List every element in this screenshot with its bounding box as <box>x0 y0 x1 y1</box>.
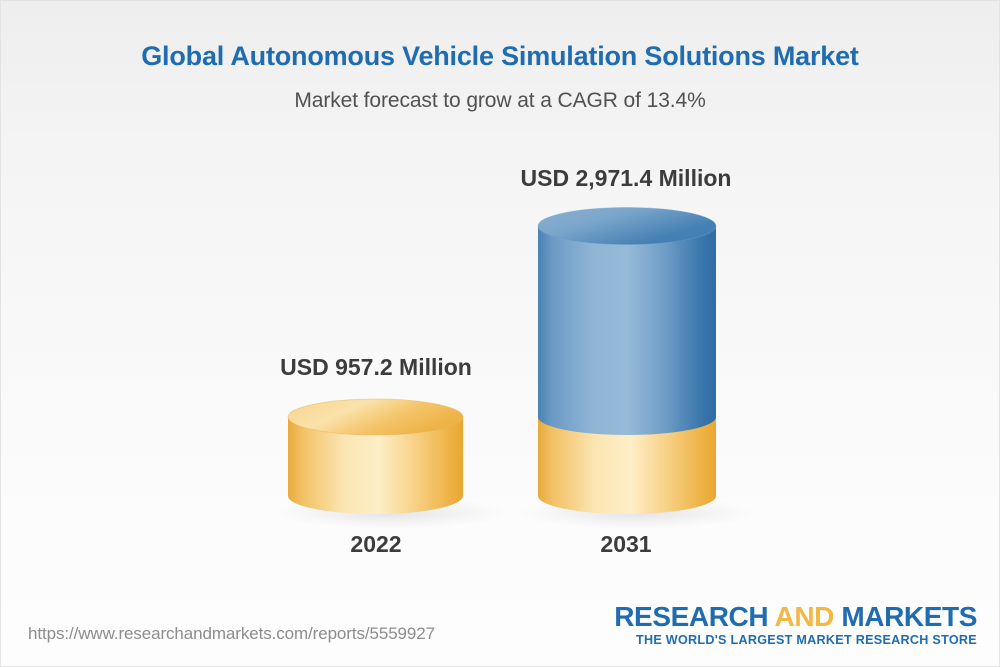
source-url[interactable]: https://www.researchandmarkets.com/repor… <box>28 624 435 644</box>
plot-area: USD 957.2 Million USD 2,971.4 Million 20… <box>1 1 1000 601</box>
cylinder-bars-graphic <box>1 1 1000 601</box>
value-label-2031: USD 2,971.4 Million <box>441 165 811 192</box>
logo-word-research: RESEARCH <box>614 601 774 632</box>
value-label-2022: USD 957.2 Million <box>191 354 561 381</box>
logo-word-markets: MARKETS <box>841 601 977 632</box>
logo-wordmark: RESEARCH AND MARKETS <box>614 602 977 631</box>
logo-word-and: AND <box>775 601 842 632</box>
chart-canvas: Global Autonomous Vehicle Simulation Sol… <box>0 0 1000 667</box>
research-and-markets-logo[interactable]: RESEARCH AND MARKETS THE WORLD'S LARGEST… <box>614 602 977 648</box>
category-label-2031: 2031 <box>441 531 811 558</box>
logo-tagline: THE WORLD'S LARGEST MARKET RESEARCH STOR… <box>614 633 977 648</box>
